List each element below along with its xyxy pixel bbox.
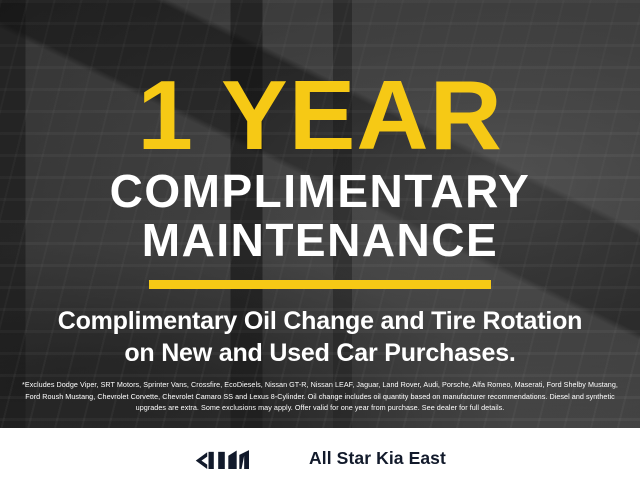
subheadline: Complimentary Oil Change and Tire Rotati… [58,306,583,369]
headline-year: 1 YEAR [137,76,502,154]
yellow-divider-rule [149,280,491,289]
disclaimer-fine-print: *Excludes Dodge Viper, SRT Motors, Sprin… [14,379,626,414]
headline-complimentary: COMPLIMENTARY [110,168,531,215]
kia-logo[interactable] [194,447,282,469]
subheadline-line-2: on New and Used Car Purchases. [58,338,583,370]
headline-maintenance: MAINTENANCE [142,217,498,264]
hero-section: 1 YEAR COMPLIMENTARY MAINTENANCE Complim… [0,0,640,428]
subheadline-line-1: Complimentary Oil Change and Tire Rotati… [58,307,583,335]
kia-maintenance-ad-banner: 1 YEAR COMPLIMENTARY MAINTENANCE Complim… [0,0,640,488]
headline-stack: 1 YEAR COMPLIMENTARY MAINTENANCE Complim… [0,0,640,428]
footer-logo-bar: All Star Kia East [0,428,640,488]
dealer-name: All Star Kia East [309,448,446,469]
